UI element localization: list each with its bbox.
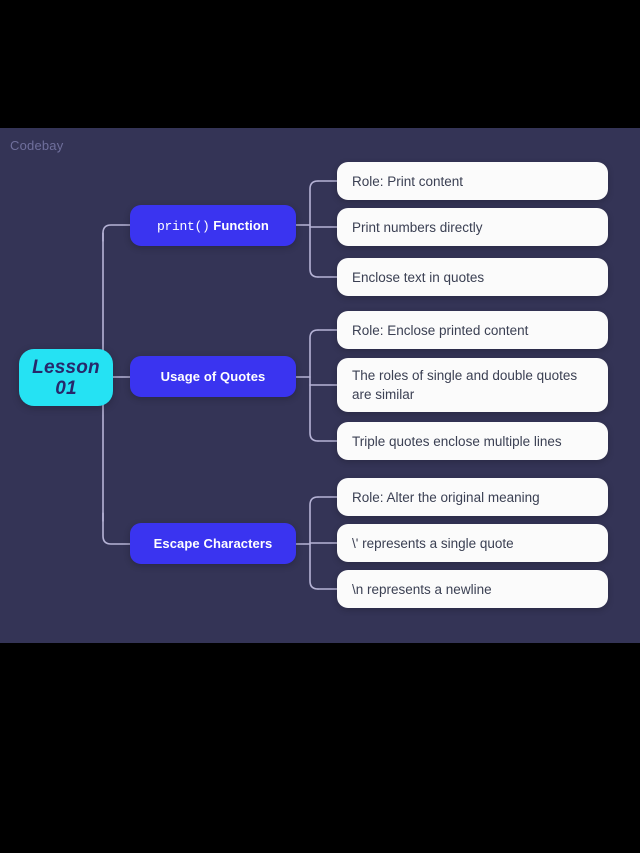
branch-label-bold: Escape Characters: [154, 536, 273, 551]
root-node-lesson-01[interactable]: Lesson 01: [19, 349, 113, 406]
branch-node-escape-characters[interactable]: Escape Characters: [130, 523, 296, 564]
branch1-spine: [310, 330, 318, 441]
leaf-card[interactable]: Enclose text in quotes: [337, 258, 608, 296]
branch-node-label: print() Function: [157, 218, 269, 234]
trunk-elbow-bottom: [103, 513, 130, 544]
branch0-spine: [310, 181, 318, 277]
leaf-card[interactable]: Role: Enclose printed content: [337, 311, 608, 349]
leaf-card-text: Role: Print content: [352, 172, 463, 191]
leaf-card[interactable]: The roles of single and double quotes ar…: [337, 358, 608, 412]
branch-node-usage-of-quotes[interactable]: Usage of Quotes: [130, 356, 296, 397]
branch-label-mono: print(): [157, 219, 210, 234]
leaf-card[interactable]: Print numbers directly: [337, 208, 608, 246]
branch-node-print-function[interactable]: print() Function: [130, 205, 296, 246]
leaf-card-text: Enclose text in quotes: [352, 268, 484, 287]
leaf-card-text: \' represents a single quote: [352, 534, 514, 553]
root-node-label: Lesson 01: [32, 357, 100, 399]
branch-node-label: Usage of Quotes: [161, 369, 266, 385]
mindmap-canvas: Codebay Lesson 01 print() Function Usage…: [0, 0, 640, 853]
leaf-card[interactable]: \n represents a newline: [337, 570, 608, 608]
leaf-card-text: The roles of single and double quotes ar…: [352, 366, 593, 404]
leaf-card-text: \n represents a newline: [352, 580, 492, 599]
leaf-card-text: Print numbers directly: [352, 218, 483, 237]
leaf-card-text: Role: Alter the original meaning: [352, 488, 540, 507]
branch-label-bold: Usage of Quotes: [161, 369, 266, 384]
codebay-watermark: Codebay: [10, 138, 63, 153]
leaf-card[interactable]: Role: Alter the original meaning: [337, 478, 608, 516]
leaf-card-text: Role: Enclose printed content: [352, 321, 528, 340]
branch2-spine: [310, 497, 318, 589]
trunk-elbow-top: [103, 225, 130, 241]
branch-node-label: Escape Characters: [154, 536, 273, 552]
leaf-card[interactable]: Role: Print content: [337, 162, 608, 200]
leaf-card[interactable]: \' represents a single quote: [337, 524, 608, 562]
leaf-card-text: Triple quotes enclose multiple lines: [352, 432, 562, 451]
branch-label-bold: Function: [210, 218, 269, 233]
leaf-card[interactable]: Triple quotes enclose multiple lines: [337, 422, 608, 460]
